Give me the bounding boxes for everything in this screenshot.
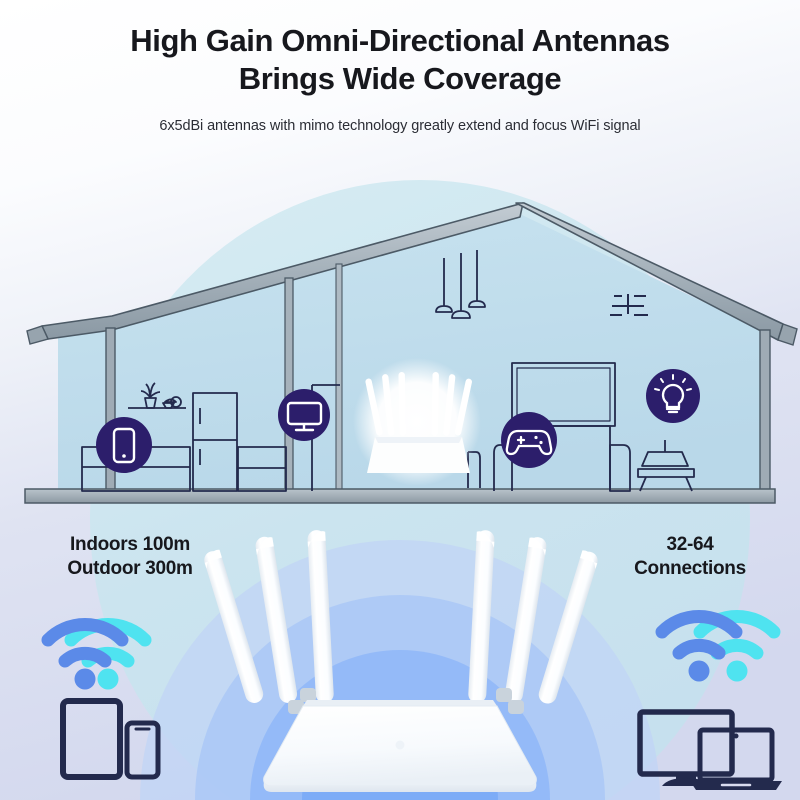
indoor-router-top-edge	[375, 437, 462, 443]
infographic-canvas: High Gain Omni-Directional Antennas Brin…	[0, 0, 800, 800]
wall-post-left	[106, 328, 115, 500]
connections-callout: 32-64 Connections	[590, 533, 790, 582]
lightbulb-badge[interactable]	[646, 369, 700, 423]
connections-line-1: 32-64	[590, 533, 790, 557]
headline-line-2: Brings Wide Coverage	[0, 60, 800, 98]
wall-post-right	[760, 330, 770, 500]
wall-post-mid	[336, 264, 342, 500]
smartphone-badge[interactable]	[96, 417, 152, 473]
coverage-range-line-1: Indoors 100m	[10, 533, 250, 557]
page-subtitle: 6x5dBi antennas with mimo technology gre…	[0, 118, 800, 134]
page-title: High Gain Omni-Directional Antennas Brin…	[0, 22, 800, 98]
wifi-right-blue-dot	[689, 661, 710, 682]
monitor-badge[interactable]	[278, 389, 330, 441]
gamepad-badge[interactable]	[501, 412, 557, 468]
connections-line-2: Connections	[590, 557, 790, 581]
coverage-range-line-2: Outdoor 300m	[10, 557, 250, 581]
wifi-left-blue-dot	[75, 669, 96, 690]
coverage-range-callout: Indoors 100m Outdoor 300m	[10, 533, 250, 582]
router-led-indicator	[396, 741, 405, 750]
headline-line-1: High Gain Omni-Directional Antennas	[0, 22, 800, 60]
router-rear-lip	[303, 700, 497, 706]
wifi-left-cyan-dot	[98, 669, 119, 690]
wifi-right-cyan-dot	[727, 661, 748, 682]
indoor-router	[353, 358, 481, 486]
